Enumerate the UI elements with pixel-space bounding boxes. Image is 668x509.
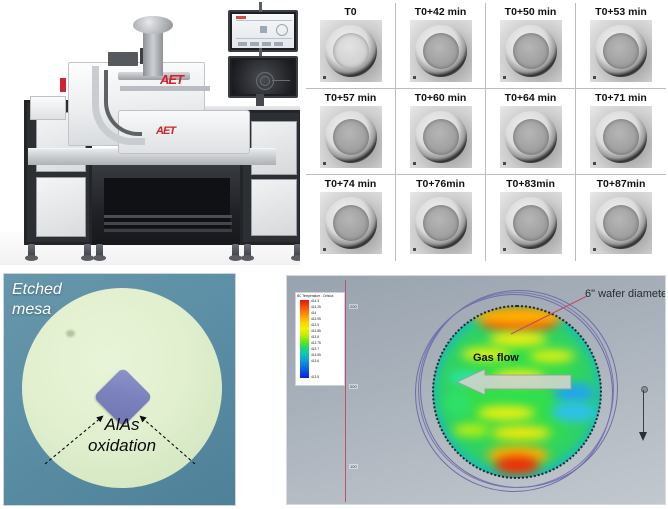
timelapse-cell: T0+71 min [576, 89, 666, 175]
wafer-oxidation-image [500, 192, 562, 254]
timelapse-cell: T0+64 min [486, 89, 576, 175]
wafer-center-arrowhead [639, 432, 647, 441]
colorbar-title: BC Temperature - Celsius [297, 294, 333, 298]
wafer-oxidation-image [320, 192, 382, 254]
wafer-oxidation-image [500, 106, 562, 168]
timelapse-cell: T0+74 min [306, 175, 396, 261]
timelapse-cell-label: T0+50 min [505, 6, 557, 18]
colorbar-gradient [300, 300, 309, 378]
colorbar-tick: 413.85 [311, 329, 321, 333]
timelapse-cell-label: T0+74 min [325, 178, 377, 190]
timelapse-cell: T0 [306, 3, 396, 89]
timelapse-cell-label: T0 [344, 6, 356, 18]
timelapse-cell: T0+57 min [306, 89, 396, 175]
cabinet-foot [294, 244, 300, 258]
left-cabinet-door-lower [36, 177, 86, 237]
timelapse-cell-label: T0+76min [416, 178, 465, 190]
red-status-tab [60, 78, 66, 92]
colorbar-tick: 413.95 [311, 317, 321, 321]
monitor-link-post [259, 48, 262, 56]
colorbar-tick: 413.9 [311, 323, 319, 327]
equipment-photo: AET AET [0, 0, 300, 265]
colorbar-tick: 413.5 [311, 375, 319, 379]
colorbar-tick: 413.8 [311, 335, 319, 339]
colorbar-tick: 413.6 [311, 359, 319, 363]
wafer-diameter-leader-line [509, 294, 589, 336]
timelapse-cell: T0+76min [396, 175, 486, 261]
temperature-colorbar-legend: BC Temperature - Celsius 414.3 414.25 41… [295, 292, 345, 386]
wafer-center-stem [643, 390, 644, 436]
alas-oxidation-line2: oxidation [66, 435, 178, 456]
brand-logo-module: AET [156, 125, 175, 137]
wafer-oxidation-image [500, 20, 562, 82]
timelapse-cell: T0+87min [576, 175, 666, 261]
wafer-oxidation-image [320, 106, 382, 168]
bench-foot [96, 244, 103, 258]
gas-flow-label: Gas flow [473, 352, 519, 364]
wafer-oxidation-image [590, 192, 652, 254]
wafer-oxidation-image [590, 106, 652, 168]
timelapse-grid: T0 T0+42 min T0+50 min T0+53 min T0+57 m… [306, 3, 666, 261]
cabinet-foot [28, 244, 35, 258]
axis-tick-label: 000 [349, 384, 358, 389]
colorbar-tick: 413.75 [311, 341, 321, 345]
monitor-bottom-screen [232, 60, 294, 94]
alas-oxidation-label: AlAs oxidation [66, 414, 178, 456]
timelapse-cell: T0+83min [486, 175, 576, 261]
gantry-column [143, 28, 163, 76]
bench-rails [104, 215, 232, 218]
monitor-top-screen [232, 14, 294, 48]
bench-foot [232, 244, 239, 258]
etched-mesa-panel: Etched mesa AlAs oxidation [3, 273, 236, 506]
monitor-pole [259, 2, 262, 12]
axis-tick-label: 200 [349, 304, 358, 309]
timelapse-cell-label: T0+83min [506, 178, 555, 190]
timelapse-cell-label: T0+64 min [505, 92, 557, 104]
wafer-camera-monitor [228, 56, 298, 98]
wafer-oxidation-image [590, 20, 652, 82]
bench-frame [92, 160, 242, 245]
wafer-oxidation-image [410, 20, 472, 82]
timelapse-cell-label: T0+87min [597, 178, 646, 190]
timelapse-cell-label: T0+42 min [415, 6, 467, 18]
right-cabinet-door-lower [251, 179, 297, 236]
wafer-oxidation-image [320, 20, 382, 82]
timelapse-cell-label: T0+60 min [415, 92, 467, 104]
axis-tick-label: 100 [349, 464, 358, 469]
wafer-diameter-label: 6" wafer diameter [585, 288, 666, 300]
oxidation-arrows [4, 274, 236, 506]
timelapse-cell: T0+50 min [486, 3, 576, 89]
timelapse-cell-label: T0+53 min [595, 6, 647, 18]
timelapse-cell-label: T0+71 min [595, 92, 647, 104]
side-control-box [30, 96, 66, 120]
gantry-head [133, 16, 173, 34]
top-module-box [108, 52, 138, 66]
timelapse-cell: T0+42 min [396, 3, 486, 89]
timelapse-cell-label: T0+57 min [325, 92, 377, 104]
timelapse-cell: T0+60 min [396, 89, 486, 175]
colorbar-tick: 414.3 [311, 299, 319, 303]
cabinet-foot [244, 244, 251, 258]
colorbar-tick: 413.7 [311, 347, 319, 351]
wafer-oxidation-image [410, 106, 472, 168]
colorbar-tick: 413.65 [311, 353, 321, 357]
simulation-axis-line [345, 280, 346, 502]
colorbar-tick: 414 [311, 311, 316, 315]
process-control-monitor [228, 10, 298, 52]
brand-logo-chamber: AET [160, 72, 183, 87]
colorbar-tick: 414.25 [311, 305, 321, 309]
wafer-oxidation-image [410, 192, 472, 254]
alas-oxidation-line1: AlAs [66, 414, 178, 435]
timelapse-cell: T0+53 min [576, 3, 666, 89]
gas-flow-arrow-icon [455, 368, 573, 396]
thermal-simulation-panel: 200 000 100 BC Temperature - Celsius 414… [286, 275, 666, 505]
cabinet-foot [84, 244, 91, 258]
